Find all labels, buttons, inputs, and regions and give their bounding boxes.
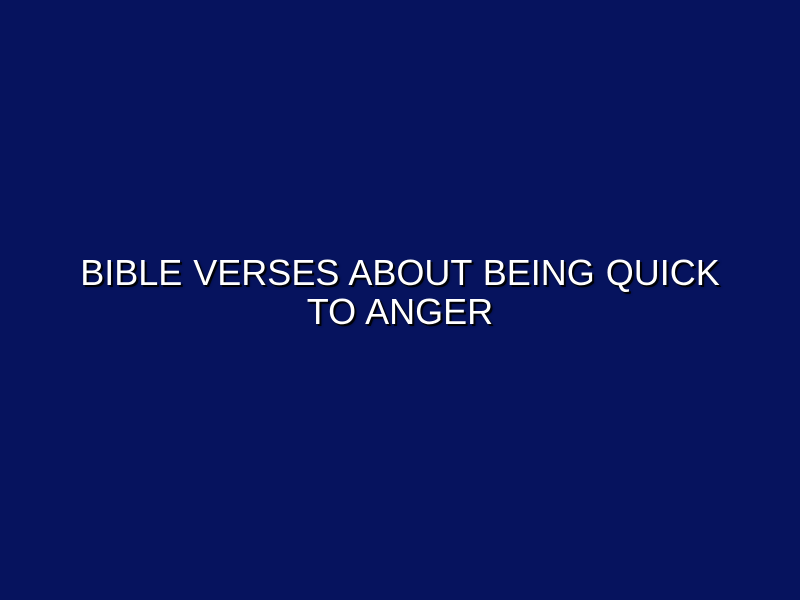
page-title: BIBLE VERSES ABOUT BEING QUICK TO ANGER — [74, 253, 726, 331]
title-block: BIBLE VERSES ABOUT BEING QUICK TO ANGER — [0, 253, 800, 331]
title-card-banner: BIBLE VERSES ABOUT BEING QUICK TO ANGER — [0, 0, 800, 600]
